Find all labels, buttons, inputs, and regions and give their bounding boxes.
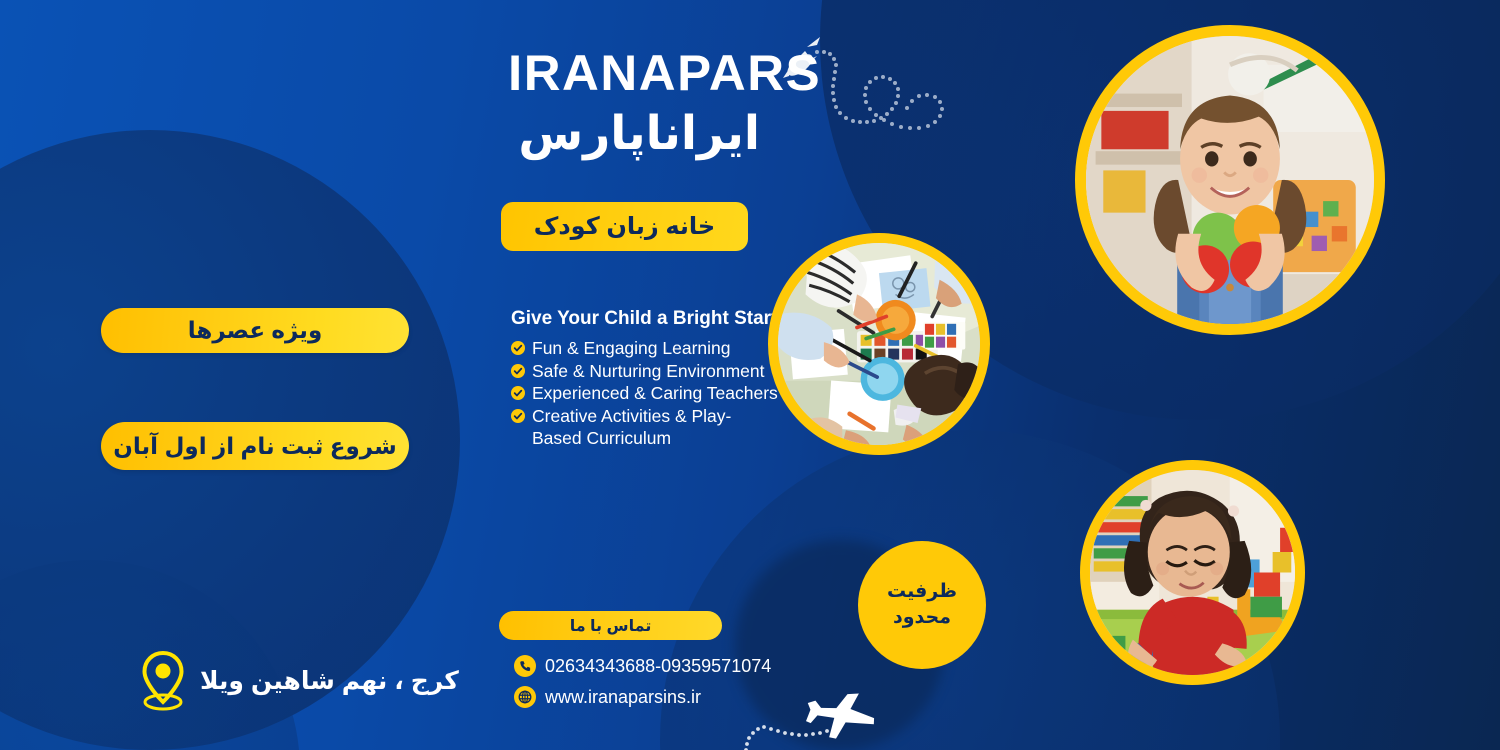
- check-circle-icon: [511, 409, 525, 423]
- list-item: Experienced & Caring Teachers: [511, 382, 779, 405]
- list-item: Safe & Nurturing Environment: [511, 360, 779, 383]
- capacity-badge-line1: ظرفیت: [887, 579, 957, 605]
- evening-special-label: ویژه عصرها: [188, 317, 322, 344]
- feature-label: Safe & Nurturing Environment: [532, 361, 764, 381]
- brand-name-farsi: ایراناپارس: [508, 108, 760, 157]
- photo-girl-with-blocks-art: [1090, 470, 1295, 675]
- contact-website-text: www.iranaparsins.ir: [545, 687, 701, 708]
- photo-girl-with-balls: [1075, 25, 1385, 335]
- location-pin-icon: [140, 650, 186, 712]
- feature-list: Fun & Engaging Learning Safe & Nurturing…: [511, 337, 779, 450]
- tagline: Give Your Child a Bright Start!: [511, 308, 784, 330]
- address-block: کرج ، نهم شاهین ویلا: [140, 650, 459, 712]
- brand-name-english: IRANAPARS: [508, 48, 821, 98]
- check-circle-icon: [511, 364, 525, 378]
- registration-start-label: شروع ثبت نام از اول آبان: [113, 433, 396, 460]
- registration-start-button[interactable]: شروع ثبت نام از اول آبان: [101, 422, 409, 470]
- globe-icon: [514, 686, 536, 708]
- capacity-badge-line2: محدود: [893, 605, 951, 631]
- evening-special-button[interactable]: ویژه عصرها: [101, 308, 409, 353]
- phone-icon: [514, 655, 536, 677]
- list-item: Creative Activities & Play-Based Curricu…: [511, 405, 779, 450]
- contact-phone-row[interactable]: 02634343688-09359571074: [514, 655, 771, 677]
- photo-girl-with-balls-art: [1086, 36, 1374, 324]
- check-circle-icon: [511, 386, 525, 400]
- check-circle-icon: [511, 341, 525, 355]
- sub-brand-badge-label: خانه زبان کودک: [534, 212, 715, 241]
- photo-girl-with-blocks: [1080, 460, 1305, 685]
- photo-kids-painting: [768, 233, 990, 455]
- feature-label: Creative Activities & Play-Based Curricu…: [532, 406, 731, 449]
- sub-brand-badge: خانه زبان کودک: [501, 202, 748, 251]
- photo-kids-painting-art: [778, 243, 980, 445]
- contact-phone-text: 02634343688-09359571074: [545, 656, 771, 677]
- list-item: Fun & Engaging Learning: [511, 337, 779, 360]
- feature-label: Experienced & Caring Teachers: [532, 383, 778, 403]
- contact-heading-badge: تماس با ما: [499, 611, 722, 640]
- contact-heading-label: تماس با ما: [570, 616, 652, 636]
- capacity-badge: ظرفیت محدود: [858, 541, 986, 669]
- contact-website-row[interactable]: www.iranaparsins.ir: [514, 686, 701, 708]
- address-text: کرج ، نهم شاهین ویلا: [200, 666, 459, 696]
- promo-banner: ویژه عصرها شروع ثبت نام از اول آبان کرج …: [0, 0, 1500, 750]
- airplane-icon: [735, 685, 925, 750]
- feature-label: Fun & Engaging Learning: [532, 338, 730, 358]
